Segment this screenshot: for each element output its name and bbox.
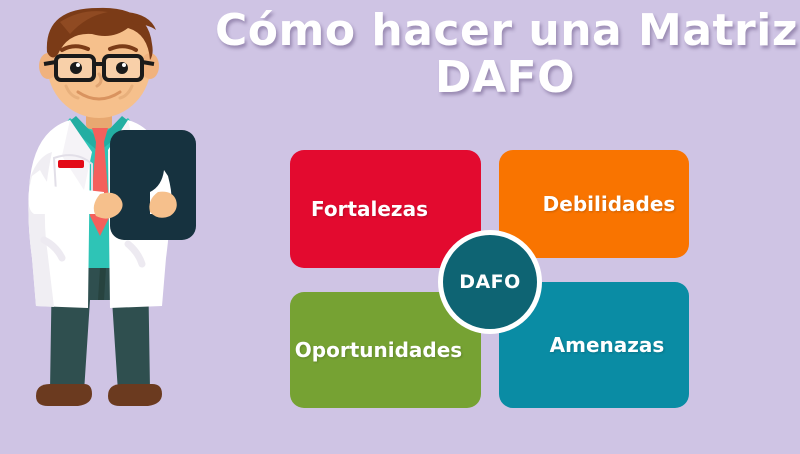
- dafo-matrix: Fortalezas Debilidades Oportunidades Ame…: [290, 150, 698, 408]
- quadrant-fortalezas-label: Fortalezas: [290, 197, 481, 221]
- businessman-illustration: [0, 0, 240, 450]
- shoe-right: [108, 384, 162, 406]
- dafo-center-node[interactable]: DAFO: [438, 230, 542, 334]
- businessman-svg: [0, 0, 240, 450]
- quadrant-amenazas-label: Amenazas: [499, 333, 689, 357]
- eye-left: [70, 62, 82, 74]
- shoe-left: [36, 384, 92, 406]
- pocket-badge: [58, 160, 84, 168]
- quadrant-oportunidades-label: Oportunidades: [290, 338, 481, 362]
- title-line-1: Cómo hacer una Matriz: [215, 8, 795, 55]
- dafo-center-label: DAFO: [459, 271, 521, 293]
- clipboard: [110, 130, 196, 240]
- glasses-temple-left: [44, 62, 56, 64]
- quadrant-debilidades-label: Debilidades: [499, 192, 689, 216]
- slide-canvas: Cómo hacer una Matriz DAFO Fortalezas De…: [0, 0, 800, 450]
- page-title: Cómo hacer una Matriz DAFO: [215, 8, 795, 101]
- eye-highlight-left: [76, 63, 80, 67]
- eye-highlight-right: [122, 63, 126, 67]
- quadrant-debilidades[interactable]: Debilidades: [499, 150, 689, 258]
- eye-right: [116, 62, 128, 74]
- glasses-temple-right: [142, 62, 154, 64]
- title-line-2: DAFO: [215, 55, 795, 102]
